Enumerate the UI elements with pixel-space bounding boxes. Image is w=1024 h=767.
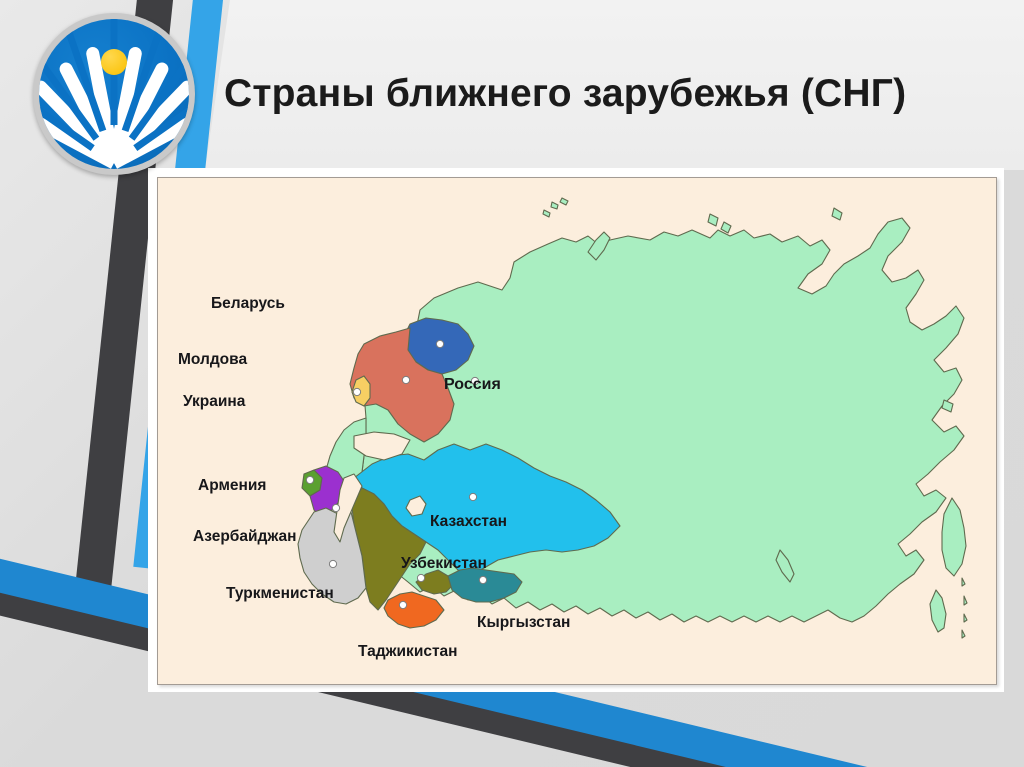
cis-countries-map: Россия Беларусь Молдова Украина Армения …: [157, 177, 997, 685]
map-label-belarus: Беларусь: [211, 295, 285, 313]
island-kurils: [962, 578, 967, 638]
island-wrangel: [942, 400, 953, 412]
island-novosibirsk: [832, 208, 842, 220]
map-label-uzbekistan: Узбекистан: [401, 555, 487, 573]
map-label-kyrgyzstan: Кыргызстан: [477, 614, 570, 632]
emblem-center-dot: [101, 49, 127, 75]
map-label-ukraine: Украина: [183, 393, 245, 411]
country-shape-tajikistan: [384, 592, 444, 628]
map-vector: [158, 178, 996, 684]
cis-emblem-icon: [33, 13, 195, 175]
emblem-disc: [39, 19, 189, 169]
map-label-kazakhstan: Казахстан: [430, 513, 507, 531]
map-label-russia: Россия: [444, 376, 501, 394]
island-franz-josef: [543, 198, 568, 217]
map-label-azerbaijan: Азербайджан: [193, 528, 297, 546]
country-shape-kamchatka: [942, 498, 966, 576]
map-label-moldova: Молдова: [178, 351, 247, 369]
map-label-armenia: Армения: [198, 477, 266, 495]
country-shape-sakhalin: [930, 590, 946, 632]
map-label-tajikistan: Таджикистан: [358, 643, 458, 661]
page-title: Страны ближнего зарубежья (СНГ): [224, 72, 1004, 116]
slide-canvas: Страны ближнего зарубежья (СНГ): [0, 0, 1024, 767]
map-label-turkmenistan: Туркменистан: [226, 585, 334, 603]
